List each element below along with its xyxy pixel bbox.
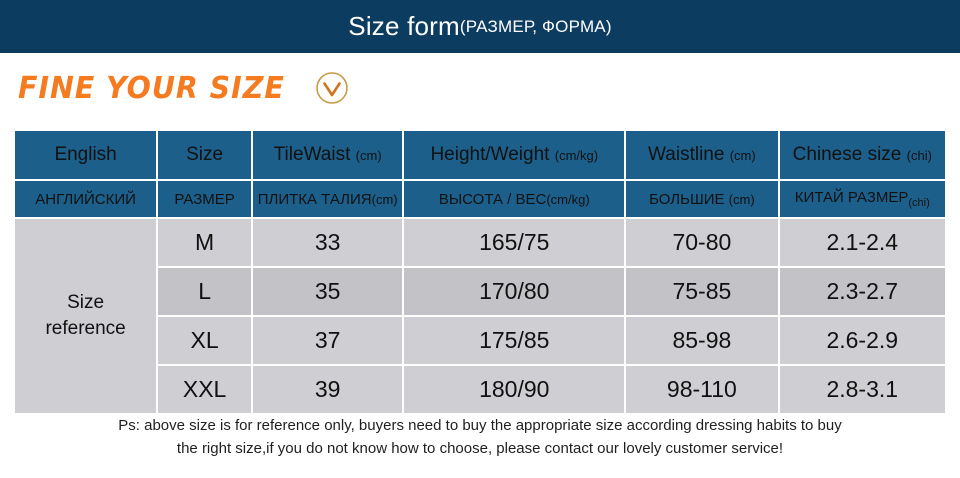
- cell-tile-waist: 37: [253, 317, 402, 364]
- cell-size: L: [158, 268, 251, 315]
- column-header-english-ru-label: АНГЛИЙСКИЙ: [35, 191, 136, 208]
- cell-size: XL: [158, 317, 251, 364]
- cell-height-weight: 165/75: [404, 219, 624, 266]
- column-header-height-weight-unit: (cm/kg): [555, 148, 598, 163]
- column-header-tilewaist-ru-unit: (cm): [372, 192, 398, 207]
- column-header-waistline-ru-label: БОЛЬШИЕ: [649, 191, 724, 208]
- column-header-tilewaist-unit: (cm): [356, 148, 382, 163]
- column-header-tilewaist: TileWaist (cm): [253, 131, 402, 179]
- column-header-tilewaist-label: TileWaist: [274, 144, 351, 165]
- column-header-chinese-size-unit: (chi): [907, 148, 932, 163]
- column-header-height-weight-label: Height/Weight: [430, 144, 549, 165]
- column-header-height-weight-ru-label: ВЫСОТА / ВЕС: [439, 191, 546, 208]
- column-header-waistline-label: Waistline: [648, 144, 724, 165]
- column-header-waistline-ru-unit: (cm): [729, 192, 755, 207]
- cell-height-weight: 170/80: [404, 268, 624, 315]
- column-header-tilewaist-ru: ПЛИТКА ТАЛИЯ(cm): [253, 181, 402, 217]
- column-header-size: Size: [158, 131, 251, 179]
- column-header-size-label: Size: [186, 144, 223, 165]
- page-header-banner: Size form(РАЗМЕР, ФОРМА): [0, 0, 960, 53]
- cell-chinese-size: 2.3-2.7: [780, 268, 945, 315]
- cell-tile-waist: 33: [253, 219, 402, 266]
- cell-chinese-size: 2.8-3.1: [780, 366, 945, 413]
- section-heading: FINE YOUR SIZE: [0, 53, 960, 123]
- size-chart-table: English Size TileWaist (cm) Height/Weigh…: [13, 129, 947, 415]
- cell-height-weight: 175/85: [404, 317, 624, 364]
- cell-tile-waist: 39: [253, 366, 402, 413]
- footer-disclaimer: Ps: above size is for reference only, bu…: [0, 414, 960, 461]
- column-header-height-weight-ru-unit: (cm/kg): [546, 192, 589, 207]
- column-header-size-ru-label: РАЗМЕР: [174, 191, 234, 208]
- column-header-tilewaist-ru-label: ПЛИТКА ТАЛИЯ: [258, 191, 372, 208]
- column-header-waistline-ru: БОЛЬШИЕ (cm): [626, 181, 777, 217]
- cell-waistline: 85-98: [626, 317, 777, 364]
- column-header-chinese-size: Chinese size (chi): [780, 131, 945, 179]
- cell-size: XXL: [158, 366, 251, 413]
- cell-chinese-size: 2.1-2.4: [780, 219, 945, 266]
- size-reference-line1: Size: [15, 290, 156, 316]
- column-header-english-ru: АНГЛИЙСКИЙ: [15, 181, 156, 217]
- column-header-english: English: [15, 131, 156, 179]
- table-header-row-english: English Size TileWaist (cm) Height/Weigh…: [15, 131, 945, 179]
- cell-chinese-size: 2.6-2.9: [780, 317, 945, 364]
- column-header-size-ru: РАЗМЕР: [158, 181, 251, 217]
- chevron-down-circle-icon: [315, 71, 349, 105]
- footer-disclaimer-line1: Ps: above size is for reference only, bu…: [28, 414, 932, 437]
- size-reference-label: Size reference: [15, 219, 156, 413]
- page-title: Size form: [348, 11, 460, 42]
- cell-waistline: 75-85: [626, 268, 777, 315]
- table-row: Size reference M 33 165/75 70-80 2.1-2.4: [15, 219, 945, 266]
- column-header-height-weight-ru: ВЫСОТА / ВЕС(cm/kg): [404, 181, 624, 217]
- column-header-chinese-size-ru-label: КИТАЙ РАЗМЕР: [795, 189, 909, 206]
- cell-size: M: [158, 219, 251, 266]
- column-header-waistline-unit: (cm): [730, 148, 756, 163]
- column-header-chinese-size-label: Chinese size: [793, 144, 902, 165]
- column-header-chinese-size-ru-unit: (chi): [908, 197, 929, 209]
- section-heading-label: FINE YOUR SIZE: [18, 71, 285, 106]
- size-reference-line2: reference: [15, 316, 156, 342]
- page-title-translation: (РАЗМЕР, ФОРМА): [460, 17, 612, 37]
- column-header-height-weight: Height/Weight (cm/kg): [404, 131, 624, 179]
- cell-height-weight: 180/90: [404, 366, 624, 413]
- cell-waistline: 98-110: [626, 366, 777, 413]
- cell-tile-waist: 35: [253, 268, 402, 315]
- footer-disclaimer-line2: the right size,if you do not know how to…: [28, 437, 932, 460]
- table-header-row-russian: АНГЛИЙСКИЙ РАЗМЕР ПЛИТКА ТАЛИЯ(cm) ВЫСОТ…: [15, 181, 945, 217]
- column-header-waistline: Waistline (cm): [626, 131, 777, 179]
- column-header-chinese-size-ru: КИТАЙ РАЗМЕР(chi): [780, 181, 945, 217]
- cell-waistline: 70-80: [626, 219, 777, 266]
- column-header-english-label: English: [54, 144, 116, 165]
